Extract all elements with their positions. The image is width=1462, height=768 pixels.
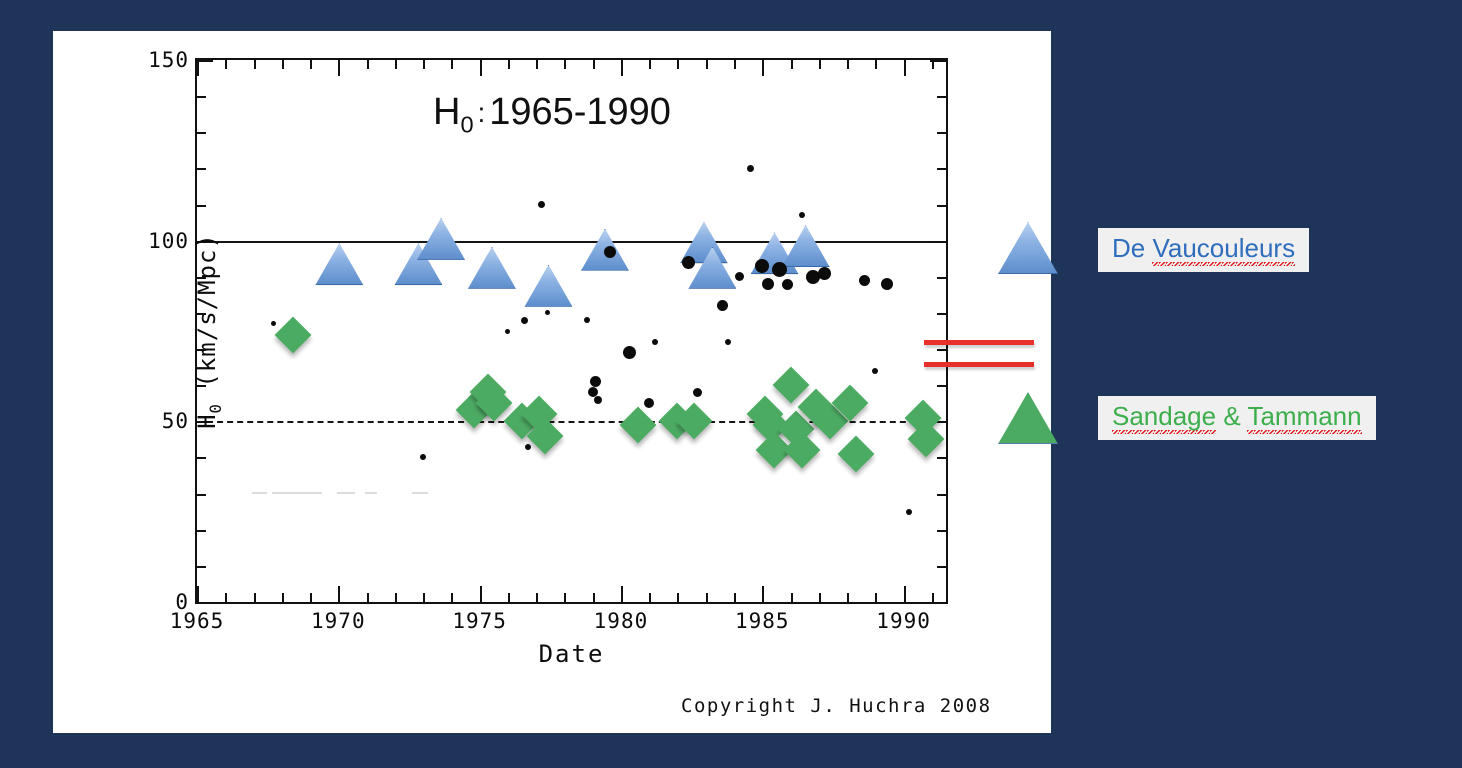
x-tick-1984 — [734, 593, 736, 602]
x-tick-1983 — [706, 593, 708, 602]
y-tick-right-140 — [937, 96, 946, 98]
data-point-circle — [762, 278, 774, 290]
x-tick-top-1983 — [706, 60, 708, 69]
x-tick-top-1987 — [819, 60, 821, 69]
data-point-circle — [772, 262, 787, 277]
x-tick-1986 — [791, 593, 793, 602]
x-tick-1973 — [423, 593, 425, 602]
x-tick-top-1984 — [734, 60, 736, 69]
y-tick-140 — [197, 96, 206, 98]
x-tick-top-1972 — [395, 60, 397, 69]
x-tick-top-1967 — [254, 60, 256, 69]
data-point-circle — [872, 368, 878, 374]
data-point-circle — [590, 376, 601, 387]
x-tick-1987 — [819, 593, 821, 602]
data-point-circle — [594, 396, 602, 404]
x-tick-top-1968 — [282, 60, 284, 69]
data-point-circle — [271, 321, 276, 326]
ghost-artifact — [365, 492, 377, 494]
x-tick-top-1982 — [677, 60, 679, 69]
x-tick-1981 — [649, 593, 651, 602]
legend-text-de: De — [1112, 233, 1152, 263]
y-tick-right-70 — [937, 349, 946, 351]
legend-text-sandage: Sandage — [1112, 401, 1216, 434]
x-tick-1966 — [225, 593, 227, 602]
x-tick-1965 — [197, 586, 199, 602]
reference-line-h0-72 — [924, 340, 1034, 345]
y-tick-130 — [197, 132, 206, 134]
x-tick-1985 — [762, 586, 764, 602]
data-point-triangle-de-vaucouleurs — [782, 225, 830, 267]
data-point-circle — [799, 212, 805, 218]
data-point-circle — [623, 346, 636, 359]
data-point-triangle-de-vaucouleurs — [315, 243, 363, 285]
data-point-circle — [725, 339, 731, 345]
legend-text-ampersand: & — [1216, 401, 1247, 431]
data-point-circle — [735, 272, 744, 281]
data-point-circle — [818, 267, 831, 280]
x-tick-1974 — [451, 593, 453, 602]
x-tick-1980 — [621, 586, 623, 602]
x-tick-1972 — [395, 593, 397, 602]
data-point-diamond-sandage-tammann — [772, 367, 809, 404]
y-tick-right-0 — [930, 602, 946, 604]
x-tick-label-1985: 1985 — [735, 609, 790, 633]
x-tick-top-1974 — [451, 60, 453, 69]
reference-line-h0-66 — [924, 362, 1034, 367]
ghost-artifact — [412, 492, 428, 494]
data-point-diamond-sandage-tammann — [837, 435, 874, 472]
x-axis-title: Date — [539, 640, 605, 668]
x-tick-top-1978 — [564, 60, 566, 69]
x-tick-top-1973 — [423, 60, 425, 69]
x-tick-top-1990 — [904, 60, 906, 76]
x-tick-top-1966 — [225, 60, 227, 69]
x-tick-top-1988 — [847, 60, 849, 69]
y-tick-label-50: 50 — [162, 409, 189, 433]
data-point-circle — [521, 317, 528, 324]
legend-text-vaucouleurs: Vaucouleurs — [1152, 233, 1295, 266]
data-point-diamond-sandage-tammann — [275, 316, 312, 353]
x-tick-1977 — [536, 593, 538, 602]
x-tick-top-1986 — [791, 60, 793, 69]
x-tick-1969 — [310, 593, 312, 602]
plot-axes: 196519701975198019851990050100150 Date H… — [195, 58, 948, 604]
gridline-h0-100 — [197, 241, 946, 243]
ghost-artifact — [337, 492, 355, 494]
y-tick-110 — [197, 205, 206, 207]
y-tick-right-150 — [930, 60, 946, 62]
x-tick-1967 — [254, 593, 256, 602]
x-tick-1976 — [508, 593, 510, 602]
data-point-circle — [525, 444, 531, 450]
x-tick-top-1977 — [536, 60, 538, 69]
x-tick-1978 — [564, 593, 566, 602]
data-point-triangle-de-vaucouleurs — [524, 265, 572, 307]
data-point-circle — [747, 165, 754, 172]
data-point-circle — [644, 398, 654, 408]
x-tick-1990 — [904, 586, 906, 602]
x-tick-1971 — [367, 593, 369, 602]
x-tick-label-1970: 1970 — [311, 609, 366, 633]
y-tick-label-100: 100 — [148, 229, 189, 253]
y-axis-title: H0 (km/s/Mpc) — [193, 233, 225, 429]
x-tick-1991 — [932, 593, 934, 602]
legend-label-de-vaucouleurs[interactable]: De Vaucouleurs — [1098, 228, 1309, 272]
data-point-circle — [782, 279, 793, 290]
x-tick-1982 — [677, 593, 679, 602]
data-point-circle — [693, 388, 702, 397]
y-tick-20 — [197, 530, 206, 532]
data-point-circle — [717, 300, 728, 311]
y-tick-right-60 — [937, 385, 946, 387]
x-tick-top-1981 — [649, 60, 651, 69]
y-tick-right-90 — [937, 277, 946, 279]
data-point-circle — [538, 201, 545, 208]
y-tick-right-20 — [937, 530, 946, 532]
legend-label-sandage-tammann[interactable]: Sandage & Tammann — [1098, 396, 1376, 440]
data-point-circle — [420, 454, 426, 460]
x-tick-top-1971 — [367, 60, 369, 69]
x-tick-1979 — [593, 593, 595, 602]
y-tick-right-80 — [937, 313, 946, 315]
y-tick-30 — [197, 494, 206, 496]
ghost-artifact — [272, 492, 322, 494]
y-tick-150 — [197, 60, 213, 62]
y-tick-10 — [197, 566, 206, 568]
x-tick-1975 — [480, 586, 482, 602]
y-tick-right-40 — [937, 457, 946, 459]
x-tick-label-1975: 1975 — [452, 609, 507, 633]
x-tick-1989 — [875, 593, 877, 602]
data-point-circle — [859, 275, 870, 286]
y-tick-label-0: 0 — [175, 590, 189, 614]
y-tick-right-10 — [937, 566, 946, 568]
y-tick-right-120 — [937, 168, 946, 170]
x-tick-top-1970 — [338, 60, 340, 76]
chart-panel: H0:1965-1990 196519701975198019851990050… — [53, 31, 1051, 733]
x-tick-1968 — [282, 593, 284, 602]
ghost-artifact — [252, 492, 267, 494]
y-tick-label-150: 150 — [148, 48, 189, 72]
x-tick-top-1989 — [875, 60, 877, 69]
data-point-circle — [652, 339, 658, 345]
x-tick-top-1969 — [310, 60, 312, 69]
x-tick-top-1985 — [762, 60, 764, 76]
x-tick-1988 — [847, 593, 849, 602]
x-tick-label-1980: 1980 — [594, 609, 649, 633]
data-point-circle — [545, 310, 550, 315]
data-point-circle — [604, 246, 616, 258]
data-point-circle — [682, 256, 695, 269]
x-tick-top-1979 — [593, 60, 595, 69]
x-tick-1970 — [338, 586, 340, 602]
x-tick-top-1980 — [621, 60, 623, 76]
x-tick-top-1975 — [480, 60, 482, 76]
y-tick-0 — [197, 602, 213, 604]
y-tick-right-130 — [937, 132, 946, 134]
y-tick-right-30 — [937, 494, 946, 496]
legend-text-tammann: Tammann — [1247, 401, 1361, 434]
copyright-notice: Copyright J. Huchra 2008 — [681, 695, 992, 717]
y-tick-40 — [197, 457, 206, 459]
data-point-circle — [881, 278, 893, 290]
data-point-circle — [505, 329, 510, 334]
y-tick-120 — [197, 168, 206, 170]
x-tick-label-1990: 1990 — [876, 609, 931, 633]
y-tick-right-110 — [937, 205, 946, 207]
data-point-triangle-de-vaucouleurs — [468, 247, 516, 289]
x-tick-top-1965 — [197, 60, 199, 76]
y-tick-right-100 — [930, 241, 946, 243]
data-point-diamond-sandage-tammann — [620, 407, 657, 444]
data-point-circle — [906, 509, 912, 515]
x-tick-top-1976 — [508, 60, 510, 69]
data-point-triangle-de-vaucouleurs — [417, 218, 465, 260]
data-point-circle — [584, 317, 590, 323]
